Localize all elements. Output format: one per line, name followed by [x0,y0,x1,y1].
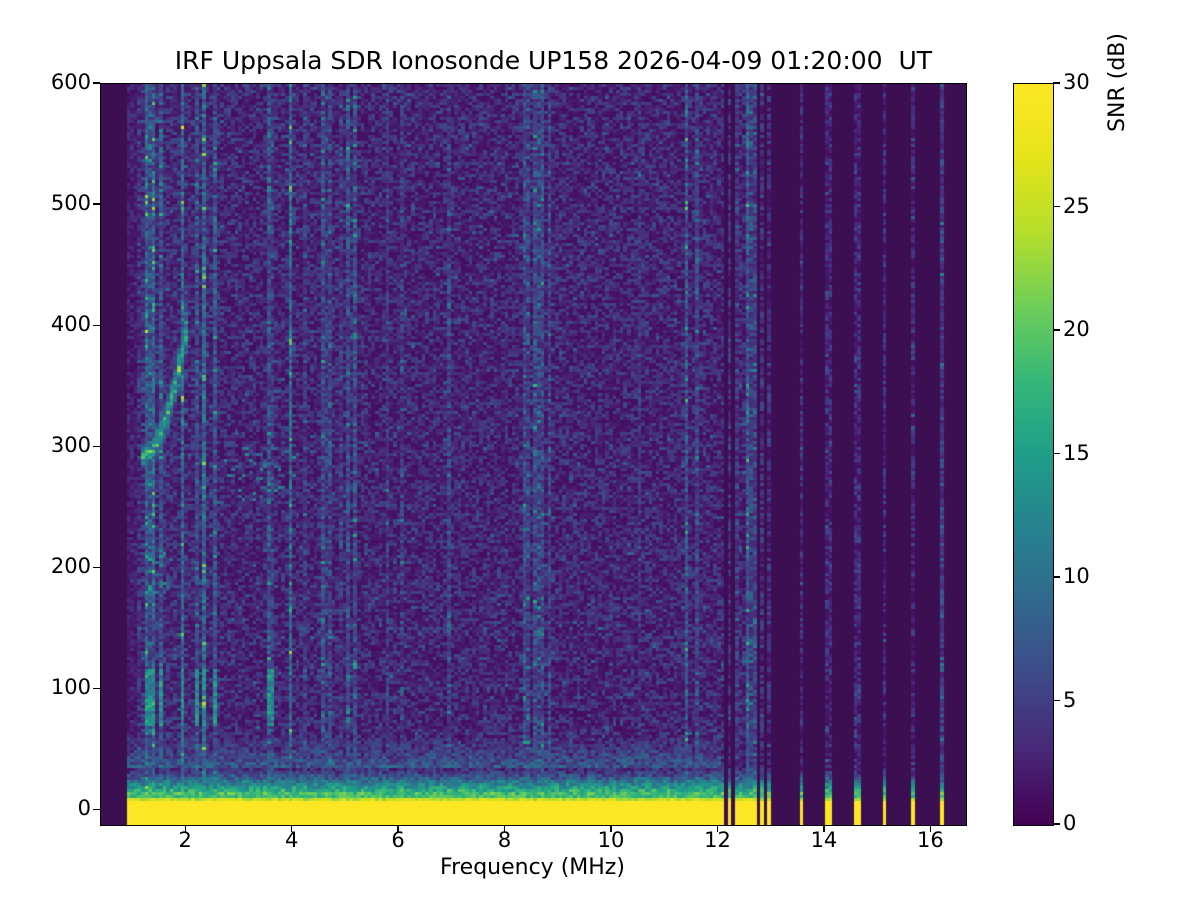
colorbar-tick-mark [1053,82,1060,83]
colorbar-tick-mark [1053,453,1060,454]
y-tick-label: 100 [31,677,91,698]
x-tick-mark [610,825,611,832]
x-tick-label: 12 [687,830,747,851]
y-tick-label: 400 [31,314,91,335]
y-tick-mark [93,325,100,326]
colorbar-tick-mark [1053,329,1060,330]
x-tick-mark [504,825,505,832]
x-tick-label: 4 [262,830,322,851]
title-line-1: IRF Uppsala SDR Ionosonde UP158 2026-04-… [175,46,932,75]
x-tick-label: 6 [368,830,428,851]
y-tick-label: 300 [31,435,91,456]
x-tick-mark [185,825,186,832]
y-tick-mark [93,446,100,447]
x-tick-mark [291,825,292,832]
y-tick-mark [93,809,100,810]
ionogram-plot-area[interactable] [100,83,967,826]
colorbar-tick-mark [1053,576,1060,577]
y-tick-label: 200 [31,556,91,577]
colorbar-tick-label: 5 [1063,690,1113,711]
x-tick-mark [823,825,824,832]
y-tick-mark [93,567,100,568]
ionogram-heatmap[interactable] [101,84,966,825]
y-tick-mark [93,203,100,204]
colorbar-tick-mark [1053,700,1060,701]
y-tick-label: 0 [31,798,91,819]
y-tick-mark [93,82,100,83]
x-tick-mark [717,825,718,832]
colorbar-tick-mark [1053,206,1060,207]
x-tick-label: 10 [581,830,641,851]
x-tick-mark [930,825,931,832]
ionogram-figure: IRF Uppsala SDR Ionosonde UP158 2026-04-… [0,0,1200,900]
x-tick-mark [397,825,398,832]
colorbar-tick-mark [1053,823,1060,824]
x-tick-label: 14 [794,830,854,851]
x-tick-label: 16 [900,830,960,851]
colorbar-gradient [1014,84,1053,825]
y-tick-label: 600 [31,72,91,93]
y-tick-mark [93,688,100,689]
y-tick-label: 500 [31,193,91,214]
x-axis-label: Frequency (MHz) [100,855,965,880]
colorbar-label: SNR (dB) [1105,0,1130,453]
colorbar-tick-label: 0 [1063,813,1113,834]
colorbar [1013,83,1054,826]
x-tick-label: 2 [155,830,215,851]
x-tick-label: 8 [475,830,535,851]
colorbar-tick-label: 10 [1063,566,1113,587]
